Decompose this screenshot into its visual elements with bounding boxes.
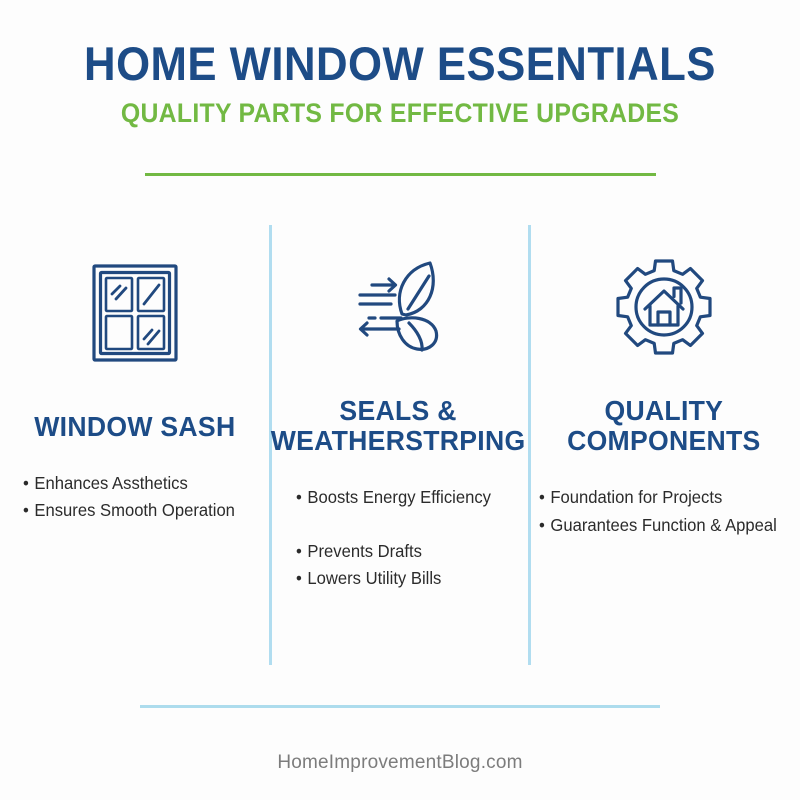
column-heading-line1: QUALITY <box>605 395 724 426</box>
list-item: •Enhances Assthetics <box>23 470 235 497</box>
column-heading-line2: WEATHERSTRPING <box>271 425 526 456</box>
bullet-marker: • <box>296 565 307 592</box>
column-heading: WINDOW SASH <box>34 412 235 442</box>
list-item: •Boosts Energy Efficiency <box>296 484 491 511</box>
columns-container: WINDOW SASH •Enhances Assthetics •Ensure… <box>0 250 800 592</box>
bullet-marker: • <box>539 484 550 511</box>
column-heading: QUALITY COMPONENTS <box>567 396 761 456</box>
bullet-marker: • <box>23 470 34 497</box>
column-heading: SEALS & WEATHERSTRPING <box>271 396 526 456</box>
bullet-marker: • <box>296 538 307 565</box>
list-item-label: Enhances Assthetics <box>34 473 187 493</box>
leaf-airflow-icon <box>347 252 451 362</box>
column-quality-components: QUALITY COMPONENTS •Foundation for Proje… <box>528 250 800 539</box>
list-item-label: Lowers Utility Bills <box>307 568 441 588</box>
column-window-sash: WINDOW SASH •Enhances Assthetics •Ensure… <box>0 250 269 524</box>
list-item-label: Prevents Drafts <box>307 541 422 561</box>
list-item: •Ensures Smooth Operation <box>23 497 235 524</box>
header: HOME WINDOW ESSENTIALS QUALITY PARTS FOR… <box>0 40 800 127</box>
page-title: HOME WINDOW ESSENTIALS <box>28 40 772 87</box>
column-seals-weatherstripping: SEALS & WEATHERSTRPING •Boosts Energy Ef… <box>269 250 528 592</box>
footer-website: HomeImprovementBlog.com <box>0 752 800 774</box>
list-item: •Lowers Utility Bills <box>296 565 491 592</box>
list-item-label: Guarantees Function & Appeal <box>550 515 776 535</box>
footer-divider-blue <box>140 705 660 708</box>
window-sash-icon <box>89 258 181 368</box>
list-item-label: Ensures Smooth Operation <box>34 500 235 520</box>
bullet-marker: • <box>539 512 550 539</box>
column-heading-line1: SEALS & <box>340 395 457 426</box>
list-item: •Foundation for Projects <box>539 484 777 511</box>
bullet-marker: • <box>296 484 307 511</box>
header-divider-green <box>145 173 656 176</box>
bullet-list: •Foundation for Projects •Guarantees Fun… <box>539 484 789 538</box>
list-item-label: Foundation for Projects <box>550 487 722 507</box>
infographic-canvas: HOME WINDOW ESSENTIALS QUALITY PARTS FOR… <box>0 0 800 800</box>
gear-house-icon <box>614 252 714 362</box>
bullet-list: •Boosts Energy Efficiency •Prevents Draf… <box>296 484 501 591</box>
list-item: •Prevents Drafts <box>296 538 491 565</box>
list-item: •Guarantees Function & Appeal <box>539 512 777 539</box>
column-heading-line2: COMPONENTS <box>567 425 761 456</box>
bullet-list: •Enhances Assthetics •Ensures Smooth Ope… <box>23 470 246 524</box>
list-item-label: Boosts Energy Efficiency <box>307 487 491 507</box>
bullet-marker: • <box>23 497 34 524</box>
page-subtitle: QUALITY PARTS FOR EFFECTIVE UPGRADES <box>32 100 768 127</box>
